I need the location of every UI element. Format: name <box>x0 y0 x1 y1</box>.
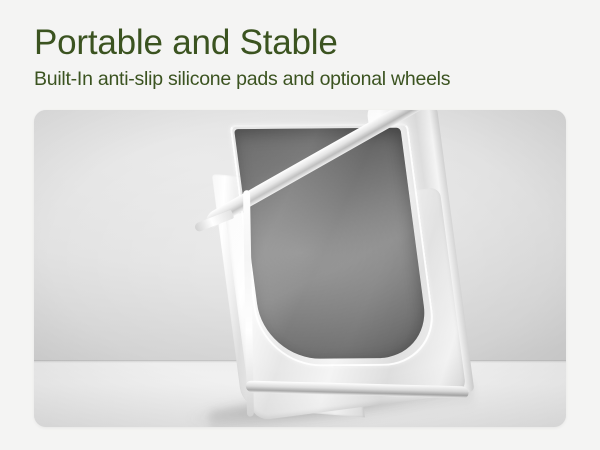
image-vignette <box>34 110 566 427</box>
page-title: Portable and Stable <box>34 22 574 64</box>
page-subtitle: Built-In anti-slip silicone pads and opt… <box>34 66 574 92</box>
heading-block: Portable and Stable Built-In anti-slip s… <box>34 22 574 92</box>
hero-product-image <box>34 110 566 427</box>
promo-banner: Portable and Stable Built-In anti-slip s… <box>0 0 600 450</box>
